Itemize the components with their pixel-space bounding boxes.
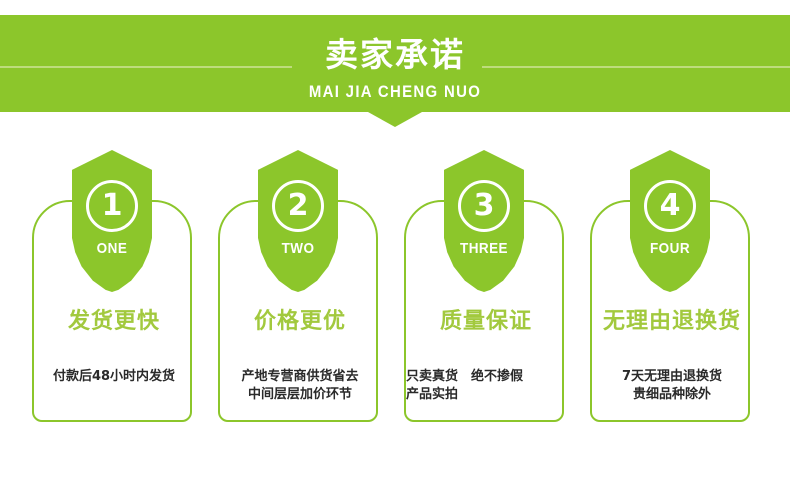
card-description-line: 中间层层加价环节	[212, 386, 388, 404]
card-description-line: 只卖真货 绝不掺假	[406, 368, 574, 386]
card-description: 只卖真货 绝不掺假 产品实拍	[398, 368, 574, 404]
card-title: 无理由退换货	[580, 308, 764, 336]
card-description: 付款后48小时内发货	[26, 368, 202, 386]
card-description-line: 产地专营商供货省去	[212, 368, 388, 386]
badge-number: 2	[272, 180, 324, 232]
card-title: 质量保证	[394, 308, 578, 336]
banner-arrow-icon	[368, 112, 422, 127]
shield-badge-icon: 2 TWO	[258, 150, 338, 292]
card-title: 发货更快	[22, 308, 206, 336]
badge-number: 3	[458, 180, 510, 232]
card-description-line: 7天无理由退换货	[584, 368, 760, 386]
promise-card-3: 3 THREE 质量保证 只卖真货 绝不掺假 产品实拍	[404, 200, 564, 422]
promise-card-4: 4 FOUR 无理由退换货 7天无理由退换货 贵细品种除外	[590, 200, 750, 422]
card-title: 价格更优	[208, 308, 392, 336]
badge-number: 1	[86, 180, 138, 232]
banner-subtitle: MAI JIA CHENG NUO	[47, 81, 742, 103]
card-description: 7天无理由退换货 贵细品种除外	[584, 368, 760, 404]
card-description-line: 贵细品种除外	[584, 386, 760, 404]
banner-title: 卖家承诺	[0, 35, 790, 75]
badge-word: THREE	[448, 240, 520, 257]
shield-badge-icon: 1 ONE	[72, 150, 152, 292]
badge-word: TWO	[262, 240, 334, 257]
badge-word: FOUR	[634, 240, 706, 257]
promise-cards: 1 ONE 发货更快 付款后48小时内发货 2 TWO 价格更优 产地专营商供货…	[32, 200, 754, 426]
badge-number: 4	[644, 180, 696, 232]
badge-word: ONE	[76, 240, 148, 257]
header-banner: 卖家承诺 MAI JIA CHENG NUO	[0, 15, 790, 112]
shield-badge-icon: 3 THREE	[444, 150, 524, 292]
card-description-line: 产品实拍	[406, 386, 574, 404]
card-description: 产地专营商供货省去 中间层层加价环节	[212, 368, 388, 404]
promise-card-2: 2 TWO 价格更优 产地专营商供货省去 中间层层加价环节	[218, 200, 378, 422]
shield-badge-icon: 4 FOUR	[630, 150, 710, 292]
promise-card-1: 1 ONE 发货更快 付款后48小时内发货	[32, 200, 192, 422]
card-description-line: 付款后48小时内发货	[26, 368, 202, 386]
